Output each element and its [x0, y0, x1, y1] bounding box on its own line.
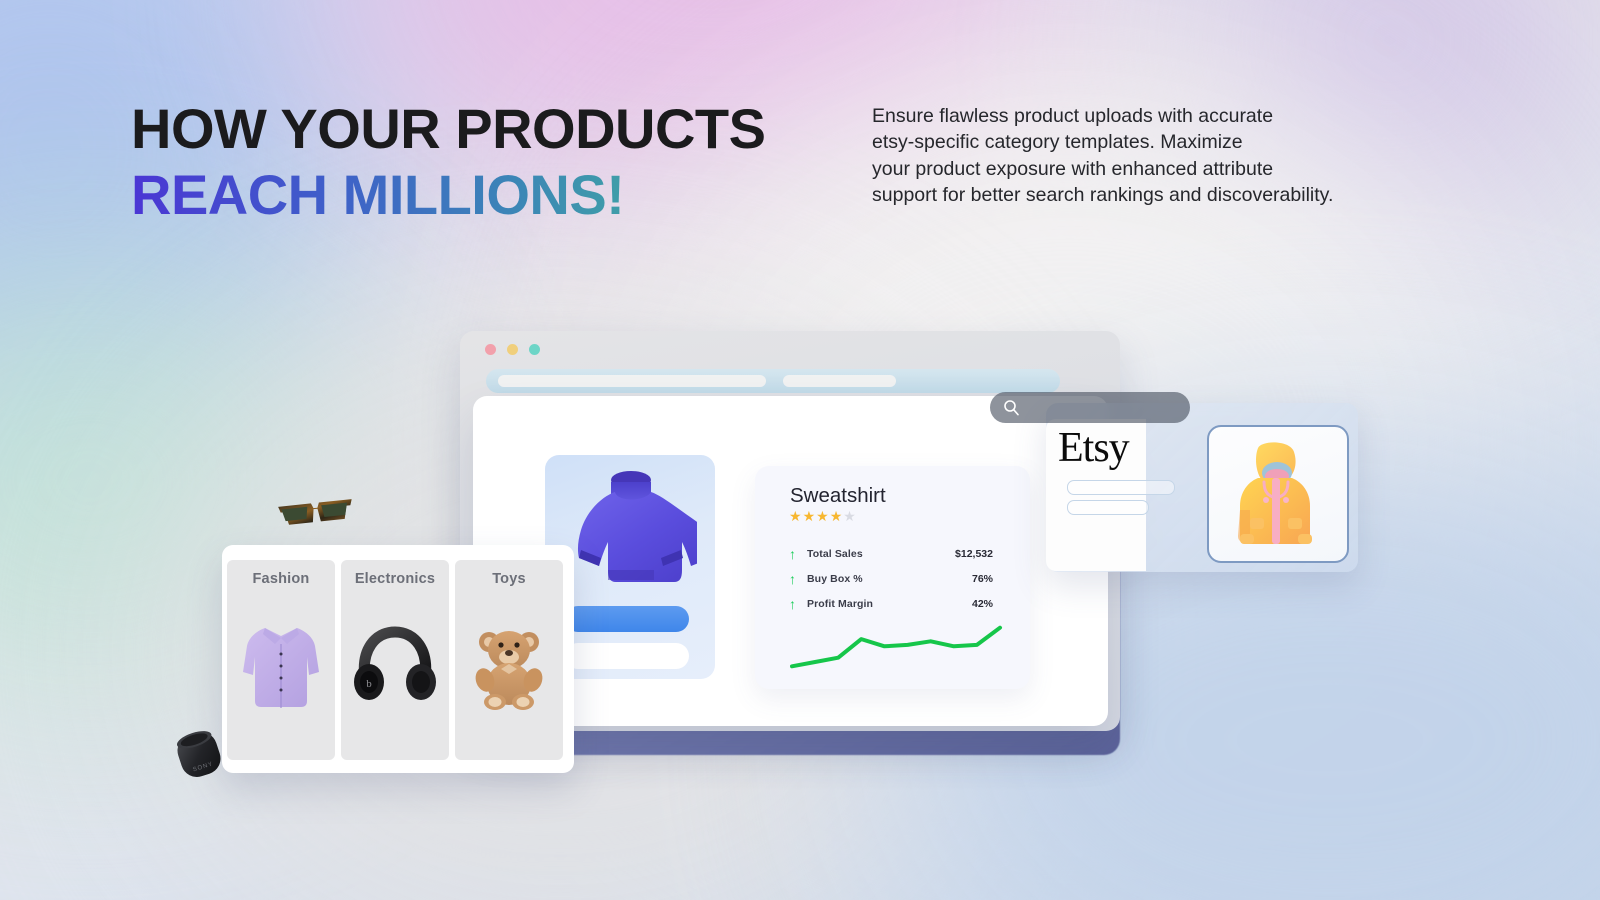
poster-canvas: HOW YOUR PRODUCTS REACH MILLIONS! Ensure…: [0, 0, 1600, 900]
window-traffic-lights: [485, 344, 540, 355]
product-primary-button[interactable]: [565, 606, 689, 632]
metrics-list: ↑ Total Sales $12,532 ↑ Buy Box % 76% ↑ …: [789, 541, 993, 616]
search-bar[interactable]: [990, 392, 1190, 423]
trend-up-arrow-icon: ↑: [789, 597, 807, 611]
black-headphones-icon: b: [341, 612, 449, 717]
metric-value: $12,532: [955, 548, 993, 560]
product-secondary-button[interactable]: [565, 643, 689, 669]
category-label-electronics: Electronics: [341, 571, 449, 587]
minimize-dot-icon[interactable]: [507, 344, 518, 355]
metric-value: 76%: [972, 573, 993, 585]
metric-row: ↑ Profit Margin 42%: [789, 591, 993, 616]
trend-up-arrow-icon: ↑: [789, 547, 807, 561]
stats-product-title: Sweatshirt: [790, 484, 886, 508]
headline-line-2: REACH MILLIONS!: [131, 162, 891, 228]
teddy-bear-icon: [455, 612, 563, 717]
rating-stars: ★ ★ ★ ★ ★: [789, 509, 856, 523]
blue-sweater-icon: [565, 466, 697, 591]
star-filled-icon: ★: [803, 509, 816, 523]
body-paragraph: Ensure flawless product uploads with acc…: [872, 103, 1472, 208]
paragraph-line-1: Ensure flawless product uploads with acc…: [872, 103, 1472, 129]
trend-up-arrow-icon: ↑: [789, 572, 807, 586]
headline-line-1: HOW YOUR PRODUCTS: [131, 96, 891, 162]
headline-block: HOW YOUR PRODUCTS REACH MILLIONS!: [131, 96, 891, 228]
star-filled-icon: ★: [789, 509, 802, 523]
maximize-dot-icon[interactable]: [529, 344, 540, 355]
purple-dress-shirt-icon: [227, 612, 335, 717]
metric-row: ↑ Buy Box % 76%: [789, 566, 993, 591]
search-icon[interactable]: [1003, 399, 1020, 416]
sales-trend-sparkline: [786, 616, 1006, 678]
category-label-toys: Toys: [455, 571, 563, 587]
metric-label: Buy Box %: [807, 573, 863, 585]
etsy-logo: Etsy: [1058, 427, 1129, 469]
yellow-raincoat-icon: [1228, 438, 1324, 548]
address-placeholder-primary: [498, 375, 766, 387]
star-filled-icon: ★: [830, 509, 843, 523]
star-filled-icon: ★: [816, 509, 829, 523]
paragraph-line-4: support for better search rankings and d…: [872, 182, 1472, 208]
paragraph-line-2: etsy-specific category templates. Maximi…: [872, 129, 1472, 155]
metric-value: 42%: [972, 598, 993, 610]
skeleton-line-1: [1067, 480, 1175, 495]
skeleton-line-2: [1067, 500, 1149, 515]
category-label-fashion: Fashion: [227, 571, 335, 587]
star-empty-icon: ★: [843, 509, 856, 523]
metric-row: ↑ Total Sales $12,532: [789, 541, 993, 566]
metric-label: Total Sales: [807, 548, 863, 560]
close-dot-icon[interactable]: [485, 344, 496, 355]
svg-text:b: b: [366, 678, 372, 690]
metric-label: Profit Margin: [807, 598, 873, 610]
address-placeholder-secondary: [783, 375, 896, 387]
paragraph-line-3: your product exposure with enhanced attr…: [872, 156, 1472, 182]
address-bar[interactable]: [486, 369, 1060, 393]
